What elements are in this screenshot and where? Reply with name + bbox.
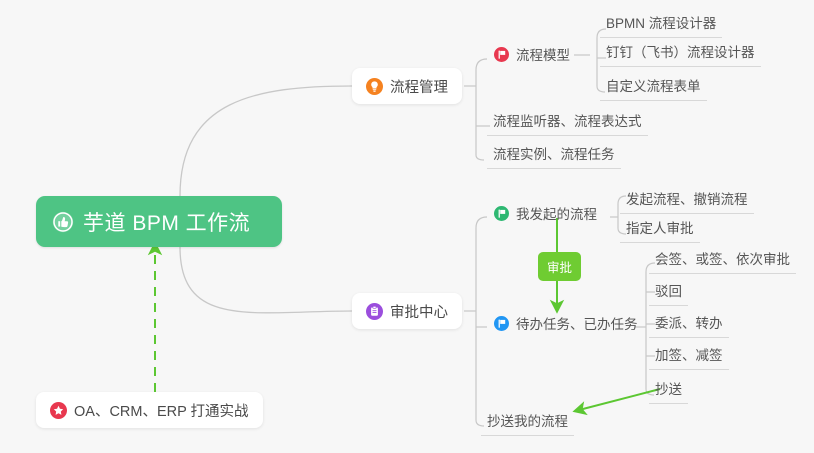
flag-icon [494, 316, 509, 331]
thumbs-up-icon [52, 211, 74, 233]
sub-node-my-initiated[interactable]: 我发起的流程 [494, 203, 597, 223]
link-flow-to-instance [476, 155, 484, 160]
root-node[interactable]: 芋道 BPM 工作流 [36, 196, 282, 247]
leaf-item[interactable]: 发起流程、撤销流程 [620, 188, 754, 214]
footnote-label: OA、CRM、ERP 打通实战 [74, 400, 249, 421]
leaf-item[interactable]: 抄送 [649, 378, 688, 404]
leaf-item[interactable]: 加签、减签 [649, 344, 729, 370]
link-root-to-approval [180, 247, 352, 313]
sub-node-process-model[interactable]: 流程模型 [494, 44, 570, 64]
sub-label-process-model: 流程模型 [516, 44, 570, 64]
leaf-item[interactable]: 钉钉（飞书）流程设计器 [600, 41, 761, 67]
leaf-item[interactable]: 流程监听器、流程表达式 [487, 110, 648, 136]
leaf-item[interactable]: 委派、转办 [649, 312, 729, 338]
sub-node-todo-done[interactable]: 待办任务、已办任务 [494, 313, 638, 333]
approve-tag[interactable]: 审批 [538, 252, 581, 281]
footnote-node[interactable]: OA、CRM、ERP 打通实战 [36, 392, 263, 428]
flag-icon [494, 47, 509, 62]
lightbulb-icon [366, 78, 383, 95]
leaf-item[interactable]: BPMN 流程设计器 [600, 12, 722, 38]
leaf-item[interactable]: 会签、或签、依次审批 [649, 248, 796, 274]
sub-label-my-initiated: 我发起的流程 [516, 203, 597, 223]
branch-label-approval-center: 审批中心 [390, 301, 448, 322]
sub-label-todo-done: 待办任务、已办任务 [516, 313, 638, 333]
root-label: 芋道 BPM 工作流 [83, 207, 250, 237]
leaf-item[interactable]: 抄送我的流程 [481, 410, 574, 436]
leaf-item[interactable]: 流程实例、流程任务 [487, 143, 621, 169]
star-icon [50, 402, 67, 419]
link-root-to-flow [180, 86, 352, 196]
branch-node-flow-management[interactable]: 流程管理 [352, 68, 462, 104]
mindmap-canvas: 芋道 BPM 工作流 流程管理 审批中心 [0, 0, 814, 453]
flag-icon [494, 206, 509, 221]
branch-label-flow-management: 流程管理 [390, 76, 448, 97]
branch-node-approval-center[interactable]: 审批中心 [352, 293, 462, 329]
arrow-cc [579, 389, 660, 410]
link-flow-to-model [476, 59, 487, 70]
clipboard-icon [366, 303, 383, 320]
leaf-item[interactable]: 驳回 [649, 280, 688, 306]
leaf-item[interactable]: 指定人审批 [620, 217, 700, 243]
link-appr-to-mine [476, 217, 487, 228]
leaf-item[interactable]: 自定义流程表单 [600, 75, 707, 101]
